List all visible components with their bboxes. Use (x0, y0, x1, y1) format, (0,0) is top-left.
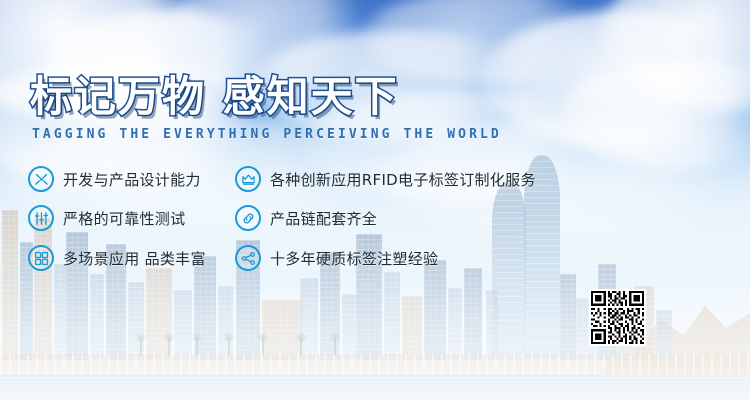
qr-code-image (591, 291, 644, 344)
building (448, 288, 462, 360)
qr-code[interactable] (589, 289, 646, 346)
link-icon (235, 205, 261, 231)
building (54, 264, 66, 360)
feature-label: 产品链配套齐全 (270, 208, 377, 229)
grid-icon (28, 245, 54, 271)
waterfront-promenade (0, 354, 750, 376)
feature-item-reliability: 严格的可靠性测试 (28, 205, 185, 231)
tools-icon (28, 166, 54, 192)
feature-list: 开发与产品设计能力 严格的可靠性测试 多场景应用 品类丰富 (0, 166, 750, 278)
page-subtitle: TAGGING THE EVERYTHING PERCEIVING THE WO… (32, 127, 502, 142)
feature-label: 开发与产品设计能力 (63, 169, 201, 190)
cloud-shape (360, 0, 620, 85)
building (174, 290, 192, 360)
share-icon (235, 245, 261, 271)
feature-item-scenarios: 多场景应用 品类丰富 (28, 245, 206, 271)
building (384, 272, 400, 360)
building (656, 310, 672, 360)
building (560, 274, 576, 360)
feature-item-experience: 十多年硬质标签注塑经验 (235, 245, 438, 271)
feature-label: 严格的可靠性测试 (63, 208, 185, 229)
building (342, 294, 356, 360)
feature-label: 十多年硬质标签注塑经验 (270, 248, 438, 269)
building (486, 290, 498, 360)
building (262, 300, 302, 360)
feature-item-rfid-custom: 各种创新应用RFID电子标签订制化服务 (235, 166, 536, 192)
feature-item-supply-chain: 产品链配套齐全 (235, 205, 377, 231)
building (402, 296, 422, 360)
promo-banner: 标记万物 感知天下 TAGGING THE EVERYTHING PERCEIV… (0, 0, 750, 400)
feature-label: 各种创新应用RFID电子标签订制化服务 (270, 169, 536, 190)
page-title: 标记万物 感知天下 (30, 72, 399, 122)
cloud-shape (600, 0, 750, 110)
sliders-icon (28, 205, 54, 231)
crown-icon (235, 166, 261, 192)
building (464, 268, 482, 360)
feature-item-development: 开发与产品设计能力 (28, 166, 201, 192)
building (218, 286, 233, 360)
bay-water (0, 374, 750, 400)
building (300, 278, 318, 360)
feature-label: 多场景应用 品类丰富 (63, 248, 206, 269)
building (90, 274, 104, 360)
